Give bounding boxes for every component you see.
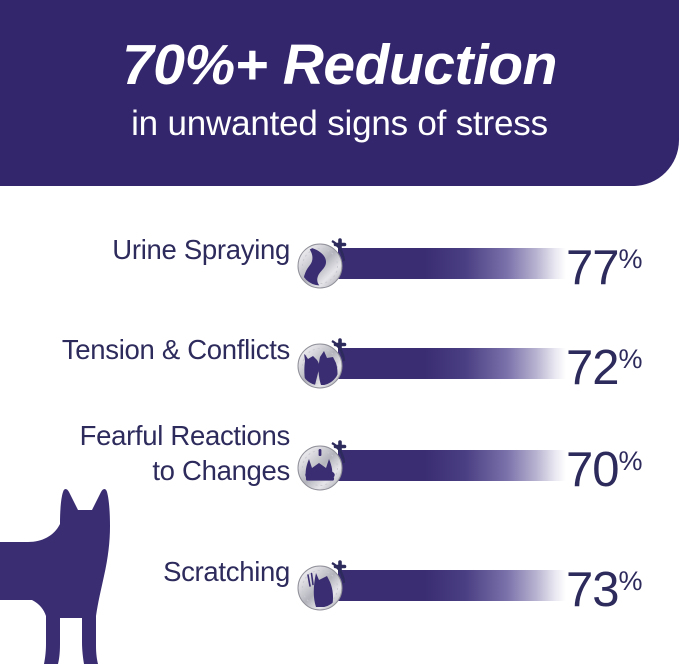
row-label-urine-spraying: Urine Spraying — [0, 234, 290, 266]
cat-urine-spraying-icon — [296, 237, 350, 291]
row-scratching: Scratching 73% — [0, 556, 679, 616]
row-tension-conflicts: Tension & Conflicts 72% — [0, 334, 679, 394]
header-banner: 70%+ Reduction in unwanted signs of stre… — [0, 0, 679, 186]
row-label-fearful-reactions: Fearful Reactions to Changes — [0, 418, 290, 488]
percent-sign: % — [619, 244, 643, 274]
cat-scratching-icon — [296, 559, 350, 613]
progress-bar-urine-spraying — [338, 248, 566, 279]
value-number: 72 — [566, 341, 619, 395]
fearful-cat-icon — [296, 439, 350, 493]
bar-chart: Urine Spraying — [0, 186, 679, 667]
page-subtitle: in unwanted signs of stress — [0, 103, 679, 145]
row-fearful-reactions: Fearful Reactions to Changes 7 — [0, 436, 679, 496]
row-label-scratching: Scratching — [0, 556, 290, 588]
progress-bar-tension-conflicts — [338, 348, 566, 379]
row-value-urine-spraying: 77% — [566, 231, 670, 296]
percent-sign: % — [619, 344, 643, 374]
row-value-fearful-reactions: 70% — [566, 433, 670, 498]
value-number: 73 — [566, 563, 619, 617]
row-value-scratching: 73% — [566, 553, 670, 618]
progress-bar-fearful-reactions — [338, 450, 566, 481]
row-label-tension-conflicts: Tension & Conflicts — [0, 334, 290, 366]
percent-sign: % — [619, 446, 643, 476]
progress-bar-scratching — [338, 570, 566, 601]
value-number: 77 — [566, 241, 619, 295]
row-value-tension-conflicts: 72% — [566, 331, 670, 396]
percent-sign: % — [619, 566, 643, 596]
value-number: 70 — [566, 443, 619, 497]
page-title: 70%+ Reduction — [0, 34, 679, 96]
two-cats-tension-icon — [296, 337, 350, 391]
row-urine-spraying: Urine Spraying — [0, 234, 679, 294]
